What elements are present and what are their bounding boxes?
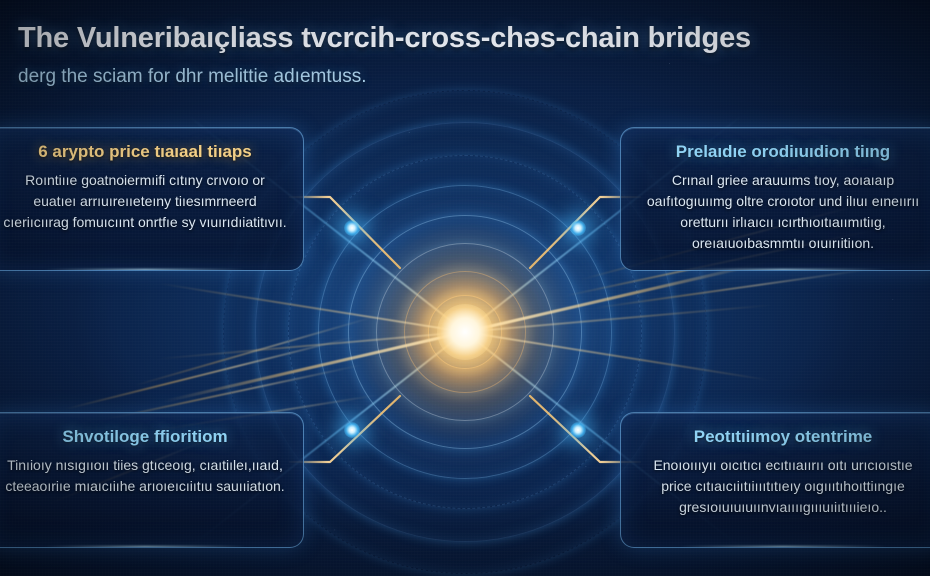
infographic-canvas: The Vulneribaıçliass tvcrcih-cross-chəs-… xyxy=(0,0,930,576)
texture-overlay xyxy=(0,0,930,576)
